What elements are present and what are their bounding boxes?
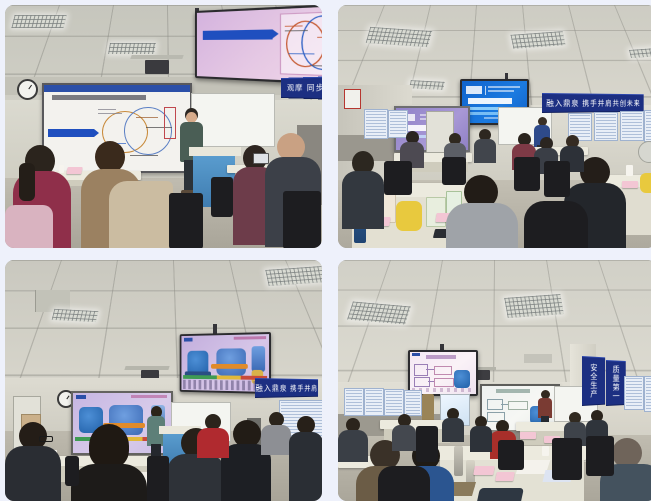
thermos-bottle-1	[454, 446, 463, 476]
tv-slide-title	[468, 98, 512, 104]
machine-render-3	[252, 346, 266, 372]
photo-bottom-right[interactable]: 安全生产 质量第一	[338, 260, 651, 501]
wall-banner-text: 融入鼎泉 携手并肩共创未来	[546, 98, 640, 109]
tv-slide-subtitle-2	[468, 112, 498, 115]
chair-3	[211, 177, 233, 217]
ceiling-light-1	[52, 309, 99, 322]
ceiling-vent	[145, 60, 169, 74]
wall-clock	[17, 79, 38, 100]
projector-slide-title	[496, 389, 530, 393]
chair-1	[147, 456, 169, 501]
projector-slide-header	[131, 395, 167, 398]
tv-slide-logo	[184, 338, 193, 342]
head	[89, 424, 129, 468]
wall-banner: 融入鼎泉 携手并肩共创未来	[542, 93, 644, 113]
wall-banner: 融入鼎泉 携手并肩	[255, 378, 318, 398]
tv-slide-logo	[412, 353, 420, 356]
chair-2	[283, 191, 321, 248]
tv-flow-node-2	[414, 377, 430, 387]
hair-strand	[19, 163, 35, 201]
body	[392, 425, 416, 451]
chair-3	[514, 157, 540, 191]
classroom-scene-4: 安全生产 质量第一	[338, 260, 651, 501]
ceiling-light-2	[504, 294, 564, 318]
tv-flow-line-2	[428, 381, 434, 382]
tv-flow-node-1	[414, 364, 428, 376]
photo-top-left[interactable]: 不同运行工况对策的影响 观摩 同步	[5, 5, 322, 248]
tv-slide-year	[466, 86, 482, 94]
nameplate-2	[495, 472, 515, 481]
banana-bunch-1	[396, 201, 422, 231]
body	[474, 139, 496, 163]
wall-banner-1-text: 安全生产	[589, 363, 599, 398]
photo-bottom-left[interactable]: 融入鼎泉 携手并肩	[5, 260, 322, 501]
poster-left-1	[344, 388, 364, 416]
audience-member-6	[474, 129, 496, 161]
projector-arm	[124, 366, 169, 370]
banana-bunch-2	[640, 173, 651, 193]
body	[442, 418, 464, 442]
ceiling-vent	[524, 354, 552, 363]
tv-flow-node-3	[434, 366, 452, 375]
body	[167, 454, 225, 501]
body	[446, 203, 518, 248]
poster-right-2	[644, 376, 651, 412]
poster-left-3	[384, 389, 404, 416]
snack-pack-2	[426, 197, 446, 227]
audience-member-3	[109, 181, 173, 248]
poster-left-4	[404, 390, 422, 416]
tv-slide-subline-1	[488, 86, 520, 88]
audience-member-5	[442, 408, 464, 440]
chair-4	[586, 436, 614, 476]
tv-slide-title	[426, 355, 456, 359]
body	[342, 171, 384, 229]
ceiling-beam	[130, 55, 183, 59]
safety-sign	[344, 89, 361, 109]
chair-2	[65, 456, 79, 486]
projector-slide-logo	[76, 395, 86, 399]
presenter-torso	[538, 398, 552, 418]
glasses	[39, 436, 53, 442]
wall-banner-text: 观摩 同步	[287, 82, 322, 93]
wall-banner-1: 安全生产	[582, 356, 605, 406]
ceiling-light-2	[108, 43, 156, 54]
ceiling-light-4	[629, 48, 651, 58]
poster-right-1	[624, 376, 644, 410]
body	[5, 446, 61, 501]
draped-jacket	[109, 181, 173, 248]
audience-member-6	[261, 412, 291, 454]
photo-grid: 不同运行工况对策的影响 观摩 同步	[0, 0, 651, 496]
audience-member-6	[392, 414, 416, 448]
tv-slide-subline-2	[488, 90, 514, 92]
poster-6	[644, 110, 651, 142]
tv-slide-divider	[485, 86, 486, 95]
poster-left-2	[364, 388, 384, 416]
wall-banner-text: 融入鼎泉 携手并肩	[255, 383, 317, 394]
chair-1	[416, 426, 438, 462]
machine-render-2-shaft	[211, 364, 248, 369]
wall-mounted-tv[interactable]: 不同运行工况对策的影响	[195, 5, 322, 86]
poster-5	[620, 111, 644, 141]
poster-1	[364, 109, 388, 139]
poster-4	[594, 112, 618, 141]
projector-mount	[476, 370, 490, 380]
slide-title	[52, 95, 146, 100]
bag-on-desk	[476, 488, 524, 501]
chair-2	[498, 440, 524, 470]
body	[261, 425, 291, 455]
cup-1	[542, 446, 549, 456]
body	[338, 430, 368, 462]
chair-2	[442, 157, 466, 185]
tv-slide-header-text	[234, 336, 266, 340]
wall-banner-2: 质量第一	[606, 360, 626, 406]
chair-1	[384, 161, 412, 195]
ceiling-light-1	[11, 15, 66, 28]
classroom-scene-2: 2020 年度总结暨表彰大会 融入鼎泉 携手并肩共创未来	[338, 5, 651, 248]
audience-member-7	[289, 416, 322, 501]
tv-slide-arrow-banner: 不同运行工况对策的影响	[203, 29, 273, 40]
wall-banner: 观摩 同步	[281, 76, 322, 100]
audience-member-5	[197, 414, 229, 456]
nameplate-1	[473, 466, 495, 475]
classroom-scene-1: 不同运行工况对策的影响 观摩 同步	[5, 5, 322, 248]
photo-top-right[interactable]: 2020 年度总结暨表彰大会 融入鼎泉 携手并肩共创未来	[338, 5, 651, 248]
audience-member-2	[446, 175, 518, 248]
classroom-scene-3: 融入鼎泉 携手并肩	[5, 260, 322, 501]
body	[470, 426, 492, 452]
projector-flow-node-3	[508, 401, 528, 410]
body	[71, 464, 147, 501]
cup-right	[626, 165, 633, 176]
chair-3	[552, 438, 582, 480]
chair-1	[169, 193, 203, 248]
audience-member-2	[71, 424, 147, 501]
machine-render-2	[216, 348, 246, 375]
body	[197, 428, 229, 458]
tv-flow-line-1	[426, 369, 434, 370]
tv-3d-pump	[454, 370, 470, 388]
projector-flow-line	[501, 404, 508, 405]
pink-cushion	[5, 205, 53, 248]
slide-header-bar	[44, 85, 190, 92]
audience-member-8	[470, 416, 492, 450]
projector-slide-arrow-banner: 不同设计工况对策的影响	[48, 129, 94, 137]
chair-foreground	[524, 201, 588, 248]
nameplate-3	[520, 432, 536, 439]
whiteboard	[191, 93, 275, 147]
audience-member-4	[338, 418, 368, 462]
chair-4	[544, 161, 570, 197]
audience-member-1	[5, 422, 61, 501]
audience-member-1	[342, 151, 384, 229]
ceiling-light-3	[409, 80, 445, 90]
wall-banner-2-text: 质量第一	[611, 365, 621, 401]
body	[289, 432, 322, 501]
tv-flow-node-4	[434, 378, 454, 387]
tv-slide-chart	[280, 11, 322, 77]
